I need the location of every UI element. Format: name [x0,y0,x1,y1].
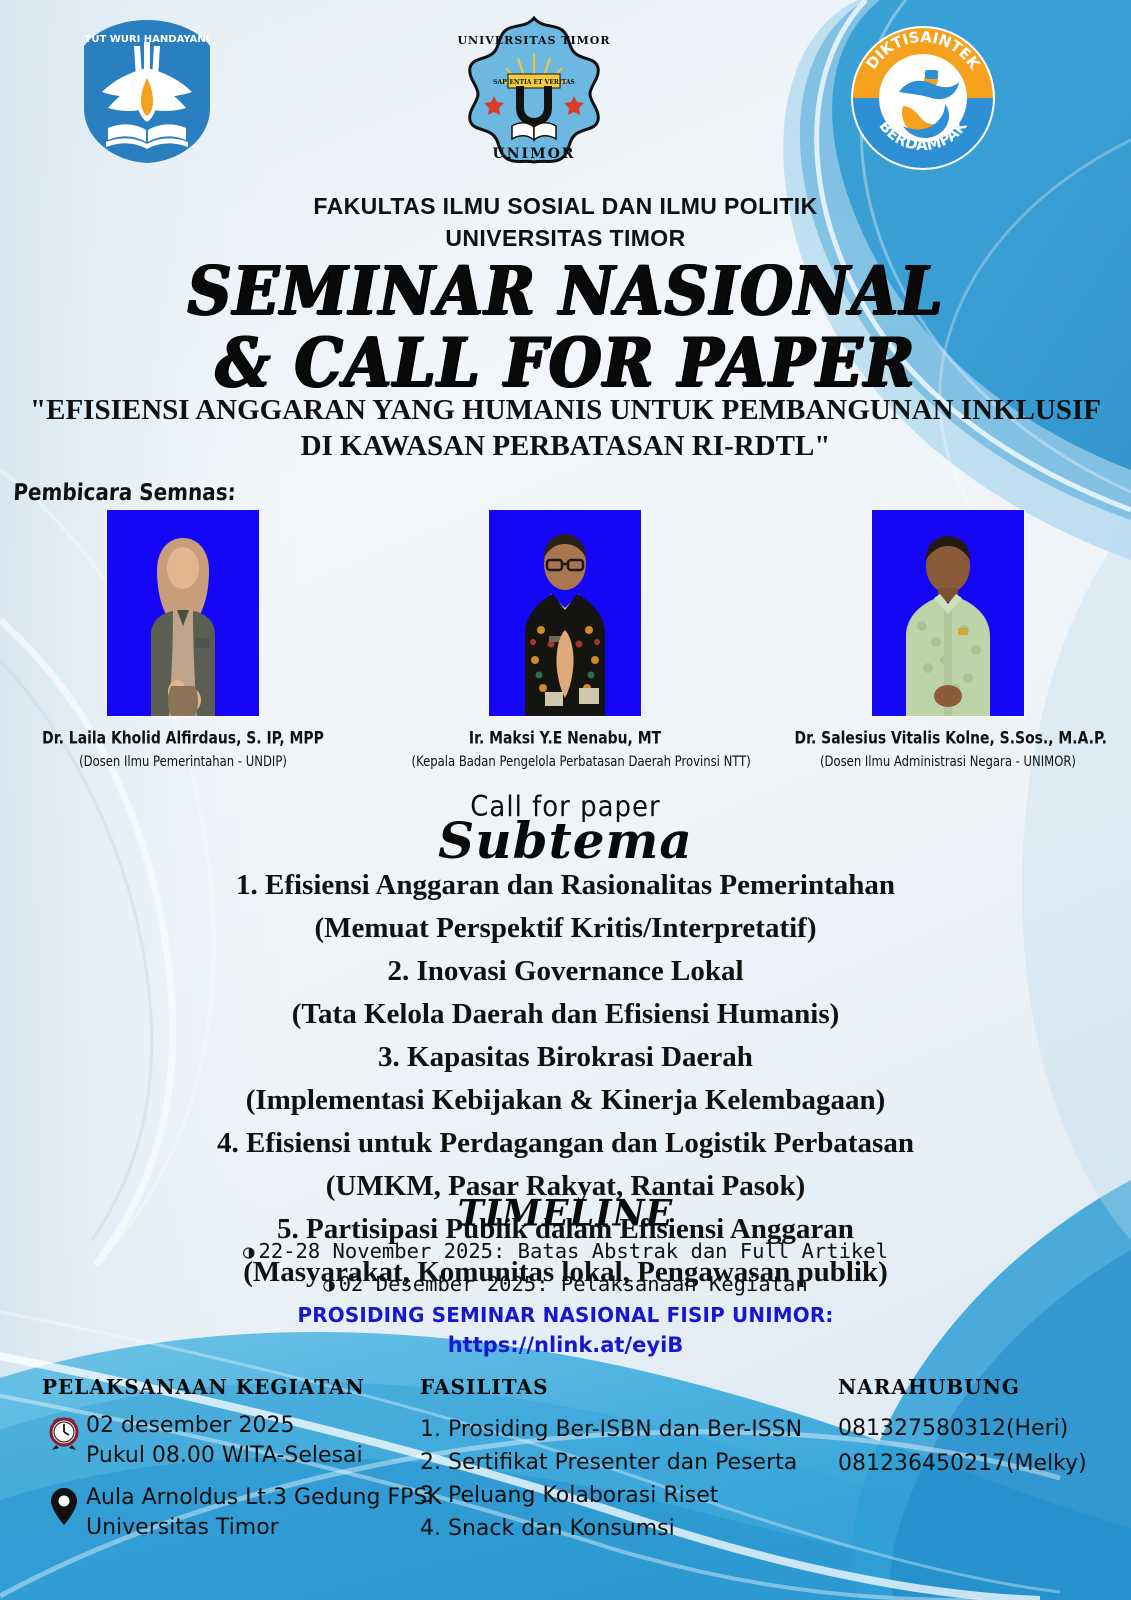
subtema-item-main: 1. Efisiensi Anggaran dan Rasionalitas P… [0,864,1131,907]
subtema-item-sub: (Memuat Perspektif Kritis/Interpretatif) [0,907,1131,950]
bullet-icon: ◑ [323,1274,334,1296]
universitas-timor-logo: UNIVERSITAS TIMOR SAPIENTIA ET VERITAS [458,14,610,166]
faculty-heading: FAKULTAS ILMU SOSIAL DAN ILMU POLITIK UN… [0,190,1131,254]
subtema-item-main: 4. Efisiensi untuk Perdagangan dan Logis… [0,1122,1131,1165]
pelaksanaan-venue: Aula Arnoldus Lt.3 Gedung FPSK [86,1483,442,1513]
subtema-item: 1. Efisiensi Anggaran dan Rasionalitas P… [0,864,1131,950]
svg-text:UNIVERSITAS TIMOR: UNIVERSITAS TIMOR [458,34,610,47]
tut-wuri-handayani-logo: TUT WURI HANDAYANI [72,16,222,164]
pelaksanaan-date: 02 desember 2025 [86,1411,363,1441]
subtema-heading: Subtema [0,816,1131,866]
svg-text:UNIMOR: UNIMOR [493,146,576,162]
speaker-photo-1 [107,510,259,716]
fasilitas-item: 3. Peluang Kolaborasi Riset [420,1479,820,1512]
narahubung-column: NARAHUBUNG 081327580312(Heri) 0812364502… [838,1375,1128,1481]
seminar-theme: "EFISIENSI ANGGARAN YANG HUMANIS UNTUK P… [0,392,1131,464]
timeline-row: ◑22-28 November 2025: Batas Abstrak dan … [0,1235,1131,1268]
narahubung-list: 081327580312(Heri) 081236450217(Melky) [838,1411,1128,1481]
prosiding-url[interactable]: https://nlink.at/eyiB [0,1330,1131,1361]
diktisaintek-berdampak-logo: DIKTISAINTEK BERDAMPAK [847,22,999,174]
theme-line-1: "EFISIENSI ANGGARAN YANG HUMANIS UNTUK P… [0,392,1131,428]
fasilitas-column: FASILITAS 1. Prosiding Ber-ISBN dan Ber-… [420,1375,820,1545]
pelaksanaan-time-row: 02 desember 2025 Pukul 08.00 WITA-Selesa… [42,1411,442,1471]
speaker-name: Dr. Salesius Vitalis Kolne, S.Sos., M.A.… [795,728,1102,748]
title-line-1: SEMINAR NASIONAL [0,258,1131,325]
speaker-photo-2 [489,510,641,716]
narahubung-contact[interactable]: 081327580312(Heri) [838,1411,1128,1446]
subtema-item: 2. Inovasi Governance Lokal (Tata Kelola… [0,950,1131,1036]
speaker-affiliation: (Dosen Ilmu Pemerintahan - UNDIP) [30,753,337,770]
location-pin-icon [42,1483,86,1527]
poster-canvas: TUT WURI HANDAYANI [0,0,1131,1600]
alarm-clock-icon [42,1411,86,1451]
speaker-affiliation: (Kepala Badan Pengelola Perbatasan Daera… [412,753,719,770]
logo-row: TUT WURI HANDAYANI [0,0,1131,175]
subtema-item-main: 2. Inovasi Governance Lokal [0,950,1131,993]
fasilitas-heading: FASILITAS [420,1375,820,1399]
pelaksanaan-place-text: Aula Arnoldus Lt.3 Gedung FPSK Universit… [86,1483,442,1543]
page-title: SEMINAR NASIONAL & CALL FOR PAPER [0,258,1131,397]
speaker-affiliation: (Dosen Ilmu Administrasi Negara - UNIMOR… [795,753,1102,770]
title-line-2: & CALL FOR PAPER [0,330,1131,397]
pelaksanaan-place-row: Aula Arnoldus Lt.3 Gedung FPSK Universit… [42,1483,442,1543]
speakers-label: Pembicara Semnas: [13,478,237,506]
speaker-name: Dr. Laila Kholid Alfirdaus, S. IP, MPP [30,728,337,748]
bullet-icon: ◑ [243,1241,254,1263]
pelaksanaan-time-text: 02 desember 2025 Pukul 08.00 WITA-Selesa… [86,1411,363,1471]
subtema-item: 3. Kapasitas Birokrasi Daerah (Implement… [0,1036,1131,1122]
timeline-list: ◑22-28 November 2025: Batas Abstrak dan … [0,1235,1131,1301]
subtema-item-main: 3. Kapasitas Birokrasi Daerah [0,1036,1131,1079]
timeline-row-text: 02 Desember 2025: Pelaksanaan Kegiatan [339,1272,808,1296]
speaker-photo-3 [872,510,1024,716]
subtema-item-sub: (Tata Kelola Daerah dan Efisiensi Humani… [0,993,1131,1036]
timeline-row-text: 22-28 November 2025: Batas Abstrak dan F… [259,1239,888,1263]
fasilitas-item: 1. Prosiding Ber-ISBN dan Ber-ISSN [420,1413,820,1446]
timeline-heading: TIMELINE [0,1192,1131,1235]
subtema-item-sub: (Implementasi Kebijakan & Kinerja Kelemb… [0,1079,1131,1122]
prosiding-block: PROSIDING SEMINAR NASIONAL FISIP UNIMOR:… [0,1300,1131,1361]
theme-line-2: DI KAWASAN PERBATASAN RI-RDTL" [0,428,1131,464]
pelaksanaan-hour: Pukul 08.00 WITA-Selesai [86,1441,363,1471]
pelaksanaan-column: PELAKSANAAN KEGIATAN 02 desem [42,1375,442,1543]
pelaksanaan-institution: Universitas Timor [86,1513,442,1543]
speaker-card: Dr. Salesius Vitalis Kolne, S.Sos., M.A.… [783,510,1113,768]
faculty-line-1: FAKULTAS ILMU SOSIAL DAN ILMU POLITIK [0,190,1131,222]
svg-text:SAPIENTIA ET VERITAS: SAPIENTIA ET VERITAS [493,79,575,86]
fasilitas-list: 1. Prosiding Ber-ISBN dan Ber-ISSN 2. Se… [420,1413,820,1545]
speaker-name: Ir. Maksi Y.E Nenabu, MT [412,728,719,748]
prosiding-label: PROSIDING SEMINAR NASIONAL FISIP UNIMOR: [17,1300,1114,1330]
call-for-paper-heading: Call for paper Subtema [0,792,1131,866]
fasilitas-item: 2. Sertifikat Presenter dan Peserta [420,1446,820,1479]
fasilitas-item: 4. Snack dan Konsumsi [420,1512,820,1545]
timeline-row: ◑02 Desember 2025: Pelaksanaan Kegiatan [0,1268,1131,1301]
speaker-card: Ir. Maksi Y.E Nenabu, MT (Kepala Badan P… [400,510,730,768]
call-for-paper-kicker: Call for paper [470,791,660,824]
narahubung-heading: NARAHUBUNG [838,1375,1128,1399]
narahubung-contact[interactable]: 081236450217(Melky) [838,1446,1128,1481]
faculty-line-2: UNIVERSITAS TIMOR [0,222,1131,254]
bottom-info-row: PELAKSANAAN KEGIATAN 02 desem [0,1375,1131,1600]
speaker-card: Dr. Laila Kholid Alfirdaus, S. IP, MPP (… [18,510,348,768]
pelaksanaan-heading: PELAKSANAAN KEGIATAN [42,1375,442,1399]
speakers-row: Dr. Laila Kholid Alfirdaus, S. IP, MPP (… [0,510,1131,800]
